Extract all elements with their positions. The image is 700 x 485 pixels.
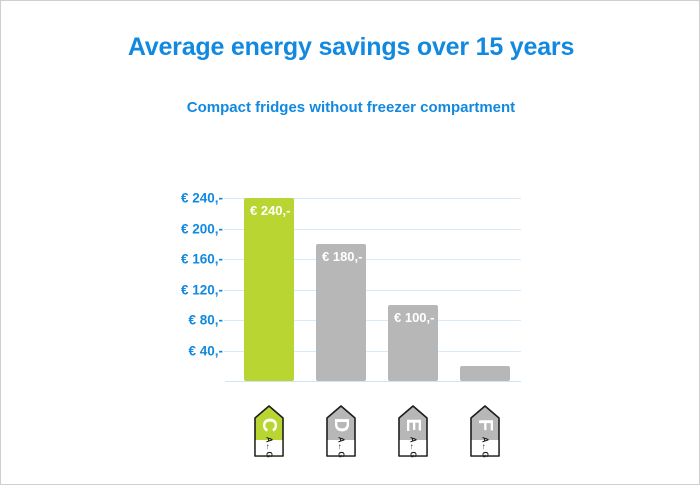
- energy-label-e: EA←G: [398, 405, 428, 457]
- energy-scale-text: A←G: [478, 433, 493, 463]
- page-title: Average energy savings over 15 years: [1, 33, 700, 62]
- bar-e: € 100,-: [388, 305, 438, 381]
- bar-value-label: € 240,-: [250, 203, 290, 218]
- bar-c: € 240,-: [244, 198, 294, 381]
- y-axis-tick-label: € 80,-: [153, 313, 223, 328]
- y-axis-tick-label: € 40,-: [153, 343, 223, 358]
- energy-label-d: DA←G: [326, 405, 356, 457]
- axis-tick: [224, 290, 233, 291]
- axis-tick: [224, 259, 233, 260]
- energy-scale-text: A←G: [406, 433, 421, 463]
- energy-scale-text: A←G: [262, 433, 277, 463]
- axis-tick: [224, 351, 233, 352]
- y-axis-tick-label: € 200,-: [153, 221, 223, 236]
- energy-scale-text: A←G: [334, 433, 349, 463]
- axis-tick: [224, 320, 233, 321]
- bar-value-label: € 180,-: [322, 249, 362, 264]
- energy-label-f: FA←G: [470, 405, 500, 457]
- axis-baseline: [225, 381, 521, 382]
- chart-subtitle: Compact fridges without freezer compartm…: [1, 99, 700, 116]
- y-axis-tick-label: € 240,-: [153, 191, 223, 206]
- bar-f: [460, 366, 510, 381]
- plot-area: € 240,-€ 180,-€ 100,-: [233, 183, 521, 381]
- bar-value-label: € 100,-: [394, 310, 434, 325]
- y-axis: € 40,-€ 80,-€ 120,-€ 160,-€ 200,-€ 240,-: [153, 183, 223, 381]
- bar-d: € 180,-: [316, 244, 366, 381]
- axis-tick: [224, 229, 233, 230]
- y-axis-tick-label: € 160,-: [153, 252, 223, 267]
- chart-page: Average energy savings over 15 years Com…: [0, 0, 700, 485]
- y-axis-tick-label: € 120,-: [153, 282, 223, 297]
- energy-label-c: CA←G: [254, 405, 284, 457]
- axis-tick: [224, 198, 233, 199]
- energy-label-row: CA←GDA←GEA←GFA←G: [233, 399, 521, 457]
